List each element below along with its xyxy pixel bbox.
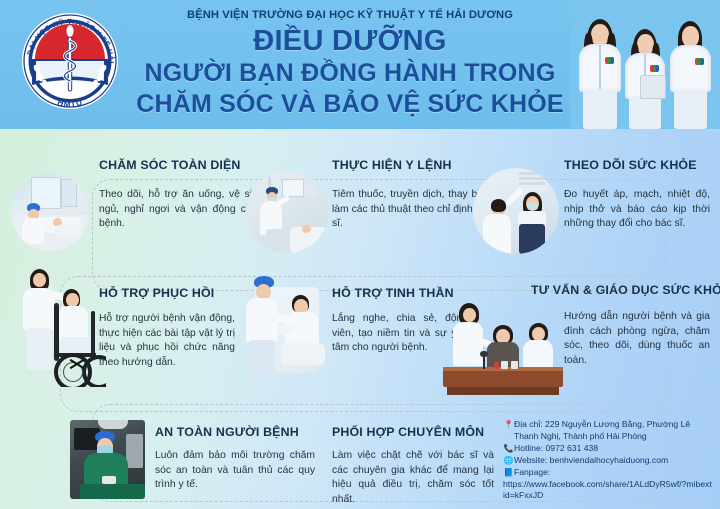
contact-fanpage-label: Fanpage: [514,467,713,479]
card-theo-doi-suc-khoe: THEO DÕI SỨC KHỎE [564,158,720,173]
card-ho-tro-tinh-than: HỖ TRỢ TINH THẦN [332,286,512,301]
facebook-icon: 📘 [503,467,514,479]
card-title: THEO DÕI SỨC KHỎE [564,158,720,173]
main-title-line2: NGƯỜI BẠN ĐỒNG HÀNH TRONG [120,60,580,87]
contact-hotline-row: 📞 Hotline: 0972 631 438 [503,443,713,455]
contact-block: 📍 Địa chỉ: 229 Nguyễn Lương Bằng, Phường… [503,419,713,502]
card-body-phoi-hop-chuyen-mon: Làm việc chặt chẽ với bác sĩ và các chuy… [332,449,494,507]
infographic-poster: ĐẠI HỌC KỸ THUẬT Y TẾ HẢI DƯƠNG HMTU BỆN… [0,0,720,509]
card-body-text: Hỗ trợ người bệnh vận động, thực hiện cá… [99,312,235,370]
card-body-text: Làm việc chặt chẽ với bác sĩ và các chuy… [332,449,494,507]
card-body-text: Đo huyết áp, mạch, nhiệt độ, nhịp thở và… [564,188,710,232]
card-title: AN TOÀN NGƯỜI BỆNH [155,425,345,440]
phone-icon: 📞 [503,443,514,455]
photo-counselling-desk [443,303,563,399]
contact-website-row[interactable]: 🌐 Website: benhviendaihocyhaiduong.com [503,455,713,467]
card-body-tu-van-giao-duc: Hướng dẫn người bệnh và gia đình cách ph… [564,310,710,368]
photo-nurse-adjusting-iv [246,171,328,253]
photo-nurse-measuring-height [473,168,559,254]
photo-surgeon-operating-room [70,420,145,499]
card-body-an-toan-nguoi-benh: Luôn đảm bảo môi trường chăm sóc an toàn… [155,449,315,493]
card-thuc-hien-y-lenh: THỰC HIỆN Y LỆNH [332,158,522,173]
card-title: PHỐI HỢP CHUYÊN MÔN [332,425,522,440]
photo-nurse-feeding-patient [11,173,89,251]
contact-address-text: Địa chỉ: 229 Nguyễn Lương Bằng, Phường L… [514,419,713,442]
card-body-text: Luôn đảm bảo môi trường chăm sóc an toàn… [155,449,315,493]
location-pin-icon: 📍 [503,419,514,431]
card-body-ho-tro-phuc-hoi: Hỗ trợ người bệnh vận động, thực hiện cá… [99,312,235,370]
contact-fanpage-url[interactable]: https://www.facebook.com/share/1ALdDyR5w… [503,479,713,502]
photo-nurse-holding-hands [237,273,332,381]
hospital-logo: ĐẠI HỌC KỸ THUẬT Y TẾ HẢI DƯƠNG HMTU [19,11,121,116]
card-tu-van-giao-duc: TƯ VẤN & GIÁO DỤC SỨC KHỎE [531,283,720,298]
card-body-text: Hướng dẫn người bệnh và gia đình cách ph… [564,310,710,368]
caduceus-book-emblem-icon: ĐẠI HỌC KỸ THUẬT Y TẾ HẢI DƯƠNG HMTU [19,11,121,116]
contact-website-text[interactable]: Website: benhviendaihocyhaiduong.com [514,455,713,467]
globe-icon: 🌐 [503,455,514,467]
contact-fanpage-row[interactable]: 📘 Fanpage: [503,467,713,479]
card-body-theo-doi-suc-khoe: Đo huyết áp, mạch, nhiệt độ, nhịp thở và… [564,188,710,232]
three-nurses-photo [570,0,720,129]
poster-header: ĐẠI HỌC KỸ THUẬT Y TẾ HẢI DƯƠNG HMTU BỆN… [0,0,720,129]
main-title-line3: CHĂM SÓC VÀ BẢO VỆ SỨC KHỎE [120,91,580,118]
photo-nurse-wheelchair [14,267,106,387]
hospital-name: BỆNH VIỆN TRƯỜNG ĐẠI HỌC KỸ THUẬT Y TẾ H… [120,8,580,22]
card-title: CHĂM SÓC TOÀN DIỆN [99,158,307,173]
contact-address-row: 📍 Địa chỉ: 229 Nguyễn Lương Bằng, Phường… [503,419,713,442]
card-title: TƯ VẤN & GIÁO DỤC SỨC KHỎE [531,283,720,298]
card-an-toan-nguoi-benh: AN TOÀN NGƯỜI BỆNH [155,425,345,440]
contact-hotline-text: Hotline: 0972 631 438 [514,443,713,455]
card-phoi-hop-chuyen-mon: PHỐI HỢP CHUYÊN MÔN [332,425,522,440]
card-title: HỖ TRỢ TINH THẦN [332,286,512,301]
main-title-line1: ĐIỀU DƯỠNG [120,26,580,56]
card-cham-soc-toan-dien: CHĂM SÓC TOÀN DIỆN [99,158,307,173]
card-title: THỰC HIỆN Y LỆNH [332,158,522,173]
